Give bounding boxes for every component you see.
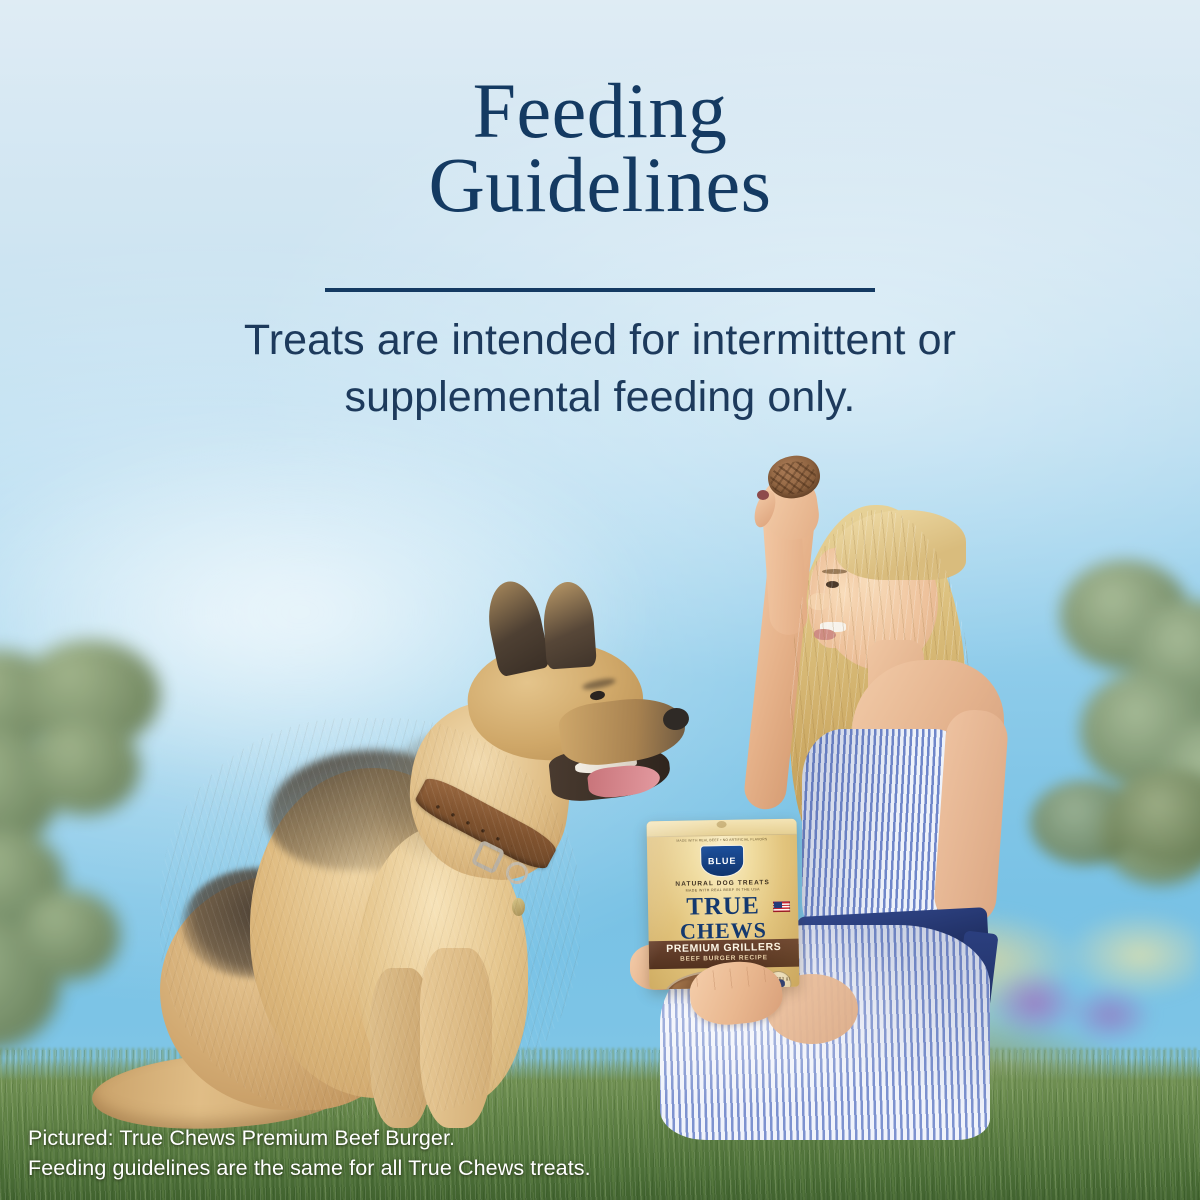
- feeding-guidelines-graphic: MADE WITH REAL BEEF • NO ARTIFICIAL FLAV…: [0, 0, 1200, 1200]
- dog-collar-tag: [512, 898, 525, 916]
- woman-fingernail: [757, 490, 769, 500]
- title-line-2: Guidelines: [0, 148, 1200, 222]
- caption-line-1: Pictured: True Chews Premium Beef Burger…: [28, 1123, 591, 1154]
- blue-brand-shield-logo: BLUE: [700, 845, 745, 878]
- title-divider-rule: [325, 288, 875, 292]
- woman-with-treat: [640, 480, 1060, 1140]
- dog-ear-near: [541, 580, 597, 669]
- usa-flag-icon: [773, 901, 790, 912]
- caption-line-2: Feeding guidelines are the same for all …: [28, 1153, 591, 1184]
- dog-foreleg-near: [420, 948, 492, 1128]
- blue-brand-text: BLUE: [708, 856, 737, 866]
- package-micro-text: MADE WITH REAL BEEF • NO ARTIFICIAL FLAV…: [647, 837, 797, 844]
- subtitle-line-1: Treats are intended for intermittent or: [244, 316, 956, 364]
- german-shepherd-dog: [120, 568, 680, 1128]
- subtitle: Treats are intended for intermittent or …: [0, 312, 1200, 426]
- page-title: Feeding Guidelines: [0, 74, 1200, 222]
- footer-caption: Pictured: True Chews Premium Beef Burger…: [28, 1123, 591, 1184]
- subtitle-line-2: supplemental feeding only.: [345, 373, 856, 421]
